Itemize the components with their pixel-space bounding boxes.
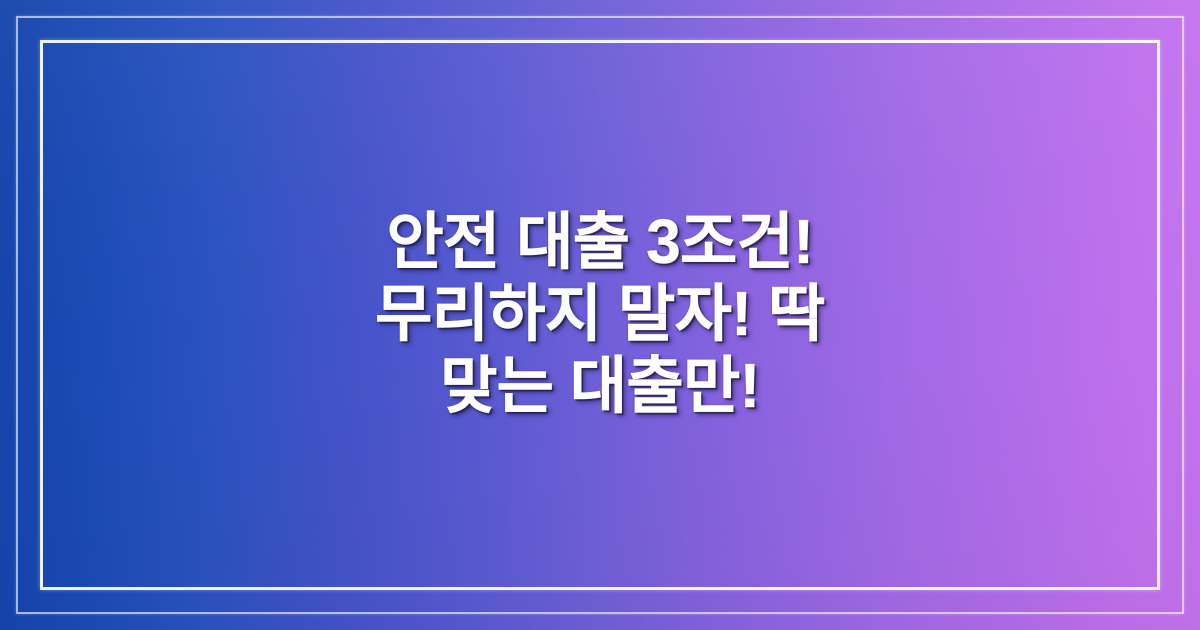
headline-line-3: 맞는 대출만! [375,351,824,423]
banner-content: 안전 대출 3조건! 무리하지 말자! 딱 맞는 대출만! [0,0,1200,630]
headline-line-1: 안전 대출 3조건! [375,207,824,279]
headline: 안전 대출 3조건! 무리하지 말자! 딱 맞는 대출만! [375,207,824,423]
banner-card: 안전 대출 3조건! 무리하지 말자! 딱 맞는 대출만! [0,0,1200,630]
headline-line-2: 무리하지 말자! 딱 [375,279,824,351]
